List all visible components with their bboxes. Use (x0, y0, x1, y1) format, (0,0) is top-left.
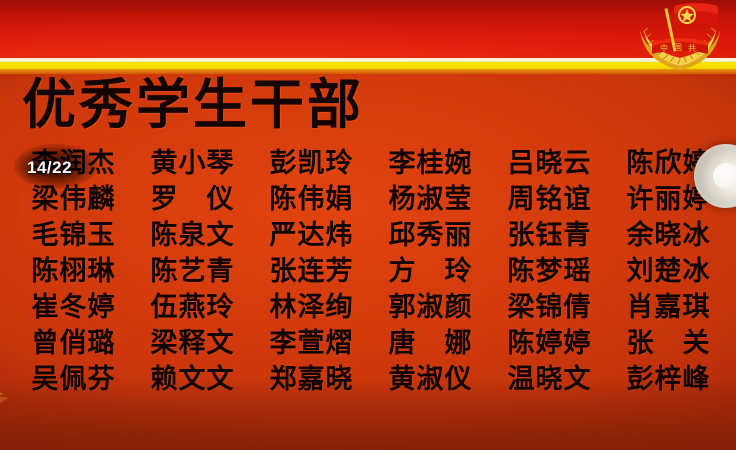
student-name-cell: 崔冬婷 (14, 286, 133, 322)
student-name-cell: 温晓文 (490, 358, 609, 394)
student-name-cell: 张连芳 (252, 250, 371, 286)
student-name-cell: 张钰青 (490, 214, 609, 250)
slide-viewer: 中 国 共 优秀学生干部 14/22 李润杰黄小琴彭凯玲李桂婉吕晓云陈欣婷梁伟麟… (0, 0, 736, 450)
student-name-cell: 彭凯玲 (252, 142, 371, 178)
student-name-cell: 陈泉文 (133, 214, 252, 250)
student-name-cell: 方 玲 (371, 250, 490, 286)
svg-text:中: 中 (660, 43, 668, 53)
stripe-amber (0, 69, 736, 74)
student-name-cell: 梁伟麟 (14, 178, 133, 214)
student-name-cell: 肖嘉琪 (609, 286, 728, 322)
student-name-cell: 杨淑莹 (371, 178, 490, 214)
student-name-cell: 陈栩琳 (14, 250, 133, 286)
page-title: 优秀学生干部 (22, 78, 364, 133)
stripe-yellow (0, 62, 736, 69)
student-name-cell: 张 关 (609, 322, 728, 358)
top-banner (0, 0, 736, 58)
student-name-cell: 曾俏璐 (14, 322, 133, 358)
student-name-cell: 陈艺青 (133, 250, 252, 286)
student-name-cell: 林泽绚 (252, 286, 371, 322)
student-name-cell: 吕晓云 (490, 142, 609, 178)
student-name-cell: 邱秀丽 (371, 214, 490, 250)
student-name-cell: 刘楚冰 (609, 250, 728, 286)
student-name-cell: 严达炜 (252, 214, 371, 250)
student-name-cell: 吴佩芬 (14, 358, 133, 394)
student-name-cell: 赖文文 (133, 358, 252, 394)
page-counter: 14/22 (27, 158, 72, 178)
slide-body: 优秀学生干部 14/22 李润杰黄小琴彭凯玲李桂婉吕晓云陈欣婷梁伟麟罗 仪陈伟娟… (0, 74, 736, 450)
student-name-cell: 唐 娜 (371, 322, 490, 358)
student-name-cell: 李萱熠 (252, 322, 371, 358)
student-name-cell: 陈婷婷 (490, 322, 609, 358)
divider-stripes (0, 58, 736, 74)
student-name-cell: 陈伟娟 (252, 178, 371, 214)
student-name-cell: 伍燕玲 (133, 286, 252, 322)
student-name-cell: 梁锦倩 (490, 286, 609, 322)
student-name-cell: 郭淑颜 (371, 286, 490, 322)
student-name-cell: 罗 仪 (133, 178, 252, 214)
student-name-cell: 余晓冰 (609, 214, 728, 250)
svg-text:共: 共 (688, 44, 696, 53)
banner-sheen (0, 0, 736, 58)
student-name-cell: 黄淑仪 (371, 358, 490, 394)
student-name-cell: 陈梦瑶 (490, 250, 609, 286)
student-name-cell: 周铭谊 (490, 178, 609, 214)
student-name-cell: 彭梓峰 (609, 358, 728, 394)
student-name-cell: 郑嘉晓 (252, 358, 371, 394)
honor-roll-name-grid: 李润杰黄小琴彭凯玲李桂婉吕晓云陈欣婷梁伟麟罗 仪陈伟娟杨淑莹周铭谊许丽婷毛锦玉陈… (14, 142, 728, 394)
student-name-cell: 梁释文 (133, 322, 252, 358)
student-name-cell: 毛锦玉 (14, 214, 133, 250)
student-name-cell: 黄小琴 (133, 142, 252, 178)
communist-youth-league-emblem: 中 国 共 (634, 0, 726, 74)
student-name-cell: 李桂婉 (371, 142, 490, 178)
